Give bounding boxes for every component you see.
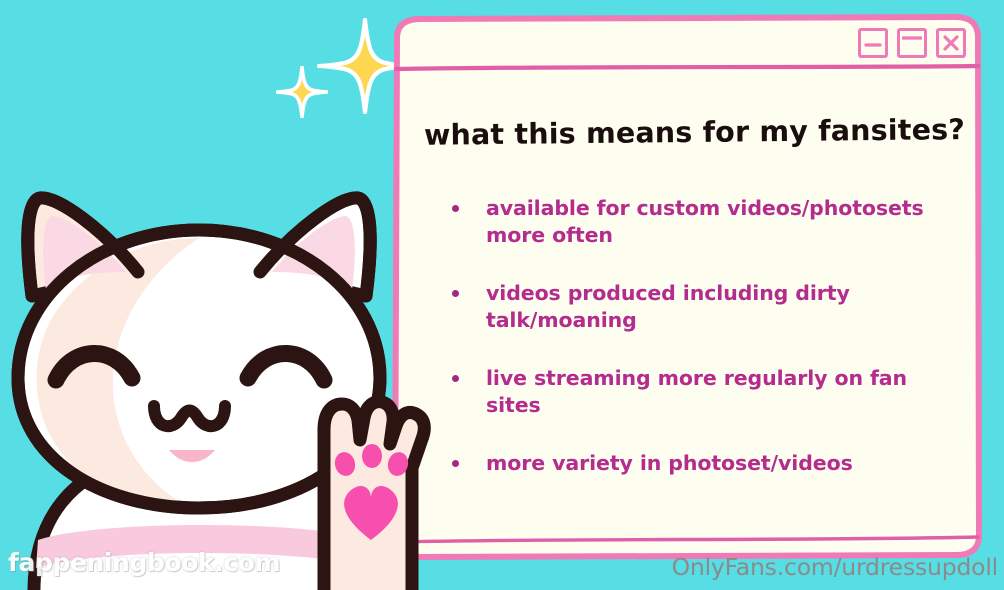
list-item-label: live streaming more regularly on fan sit… bbox=[486, 366, 907, 417]
list-item-label: more variety in photoset/videos bbox=[486, 451, 853, 475]
list-item: more variety in photoset/videos bbox=[446, 450, 942, 477]
waving-cat-illustration bbox=[0, 168, 446, 590]
minimize-icon bbox=[861, 31, 885, 55]
list-item: live streaming more regularly on fan sit… bbox=[446, 365, 942, 419]
bullet-dot-icon bbox=[452, 290, 459, 297]
window-controls bbox=[858, 28, 966, 58]
app-window: what this means for my fansites? availab… bbox=[388, 14, 986, 560]
bullet-dot-icon bbox=[452, 375, 459, 382]
close-icon bbox=[939, 31, 963, 55]
bullet-dot-icon bbox=[452, 460, 459, 467]
page-title: what this means for my fansites? bbox=[424, 113, 950, 152]
fansite-benefits-list: available for custom videos/photosets mo… bbox=[424, 195, 950, 477]
list-item: videos produced including dirty talk/moa… bbox=[446, 280, 942, 334]
bullet-dot-icon bbox=[452, 205, 459, 212]
window-content: what this means for my fansites? availab… bbox=[402, 76, 972, 546]
list-item-label: available for custom videos/photosets mo… bbox=[486, 196, 924, 247]
list-item-label: videos produced including dirty talk/moa… bbox=[486, 281, 850, 332]
sparkle-small-icon bbox=[276, 66, 328, 118]
watermark-left: fappeningbook.com bbox=[8, 548, 280, 577]
maximize-icon bbox=[900, 31, 924, 55]
close-button[interactable] bbox=[936, 28, 966, 58]
minimize-button[interactable] bbox=[858, 28, 888, 58]
maximize-button[interactable] bbox=[897, 28, 927, 58]
list-item: available for custom videos/photosets mo… bbox=[446, 195, 942, 249]
screenshot-canvas: what this means for my fansites? availab… bbox=[0, 0, 1004, 590]
watermark-right: OnlyFans.com/urdressupdoll bbox=[672, 553, 998, 581]
